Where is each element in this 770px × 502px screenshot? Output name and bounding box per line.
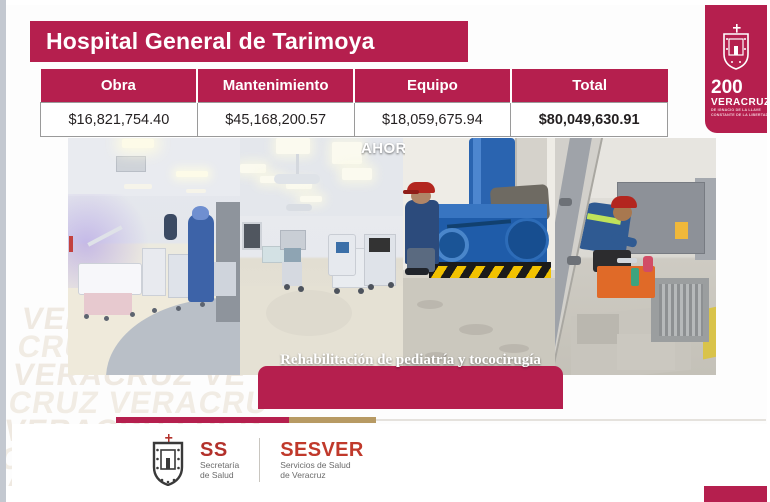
bottom-right-accent-block (704, 486, 767, 502)
ss-subtitle-line1: Secretaría (200, 460, 239, 471)
table-cell-equipo: $18,059,675.94 (354, 103, 511, 137)
photo-strip (68, 138, 716, 375)
finance-table: Obra Mantenimiento Equipo Total $16,821,… (40, 69, 668, 137)
ss-subtitle-line2: de Salud (200, 470, 239, 481)
photo-electrical-maintenance (555, 138, 716, 375)
table-header-row: Obra Mantenimiento Equipo Total (41, 69, 668, 103)
finance-table-wrapper: Obra Mantenimiento Equipo Total $16,821,… (40, 69, 668, 137)
photo-operating-room (240, 138, 403, 375)
veracruz-shield-icon (146, 432, 190, 488)
sesver-title: SESVER (280, 440, 364, 460)
table-header-equipo: Equipo (354, 69, 511, 103)
photo-pediatrics-room (68, 138, 240, 375)
caption-banner: Rehabilitación de pediatría y tococirugí… (258, 366, 563, 409)
caption-text: Rehabilitación de pediatría y tococirugí… (258, 350, 563, 371)
coat-of-arms-icon (716, 21, 756, 71)
ss-title: SS (200, 440, 239, 460)
footer-accent-bar-tan (289, 417, 376, 423)
presentation-slide: VERACRUZ VER CRUZ VERACR VERACRUZ VE CRU… (0, 0, 770, 502)
sesver-subtitle-line2: de Veracruz (280, 470, 364, 481)
table-row: $16,821,754.40 $45,168,200.57 $18,059,67… (41, 103, 668, 137)
footer-divider (259, 438, 260, 482)
table-cell-obra: $16,821,754.40 (41, 103, 198, 137)
table-header-obra: Obra (41, 69, 198, 103)
table-header-mantenimiento: Mantenimiento (197, 69, 354, 103)
table-cell-total: $80,049,630.91 (511, 103, 668, 137)
footer-logos: SS Secretaría de Salud SESVER Servicios … (146, 432, 364, 488)
veracruz-anniversary-badge: 200 VERACRUZ DE IGNACIO DE LA LLAVE CONS… (705, 5, 767, 133)
page-title: Hospital General de Tarimoya (30, 28, 375, 55)
badge-state: VERACRUZ (711, 97, 767, 108)
slide-canvas: VERACRUZ VER CRUZ VERACR VERACRUZ VE CRU… (6, 5, 767, 497)
footer-rule (376, 419, 766, 421)
taskbar-background (6, 486, 704, 502)
badge-subtext: DE IGNACIO DE LA LLAVE CONSTANTE DE LA L… (711, 108, 767, 117)
table-header-total: Total (511, 69, 668, 103)
ss-logo-text: SS Secretaría de Salud (200, 440, 239, 481)
ahora-overlay-label: AHORA (361, 140, 405, 157)
photo-compressor-repair (403, 138, 555, 375)
slide-footer: SS Secretaría de Salud SESVER Servicios … (12, 424, 767, 490)
badge-number: 200 (711, 77, 743, 99)
sesver-subtitle-line1: Servicios de Salud (280, 460, 364, 471)
table-cell-mantenimiento: $45,168,200.57 (197, 103, 354, 137)
watermark-line: CRUZ VERACRU (7, 389, 301, 417)
sesver-logo-text: SESVER Servicios de Salud de Veracruz (280, 440, 364, 481)
badge-subtext-line1: DE IGNACIO DE LA LLAVE (711, 108, 761, 112)
footer-accent-bar-red (116, 417, 289, 423)
badge-subtext-line2: CONSTANTE DE LA LIBERTAD (711, 113, 767, 117)
slide-title-bar: Hospital General de Tarimoya (30, 21, 468, 62)
